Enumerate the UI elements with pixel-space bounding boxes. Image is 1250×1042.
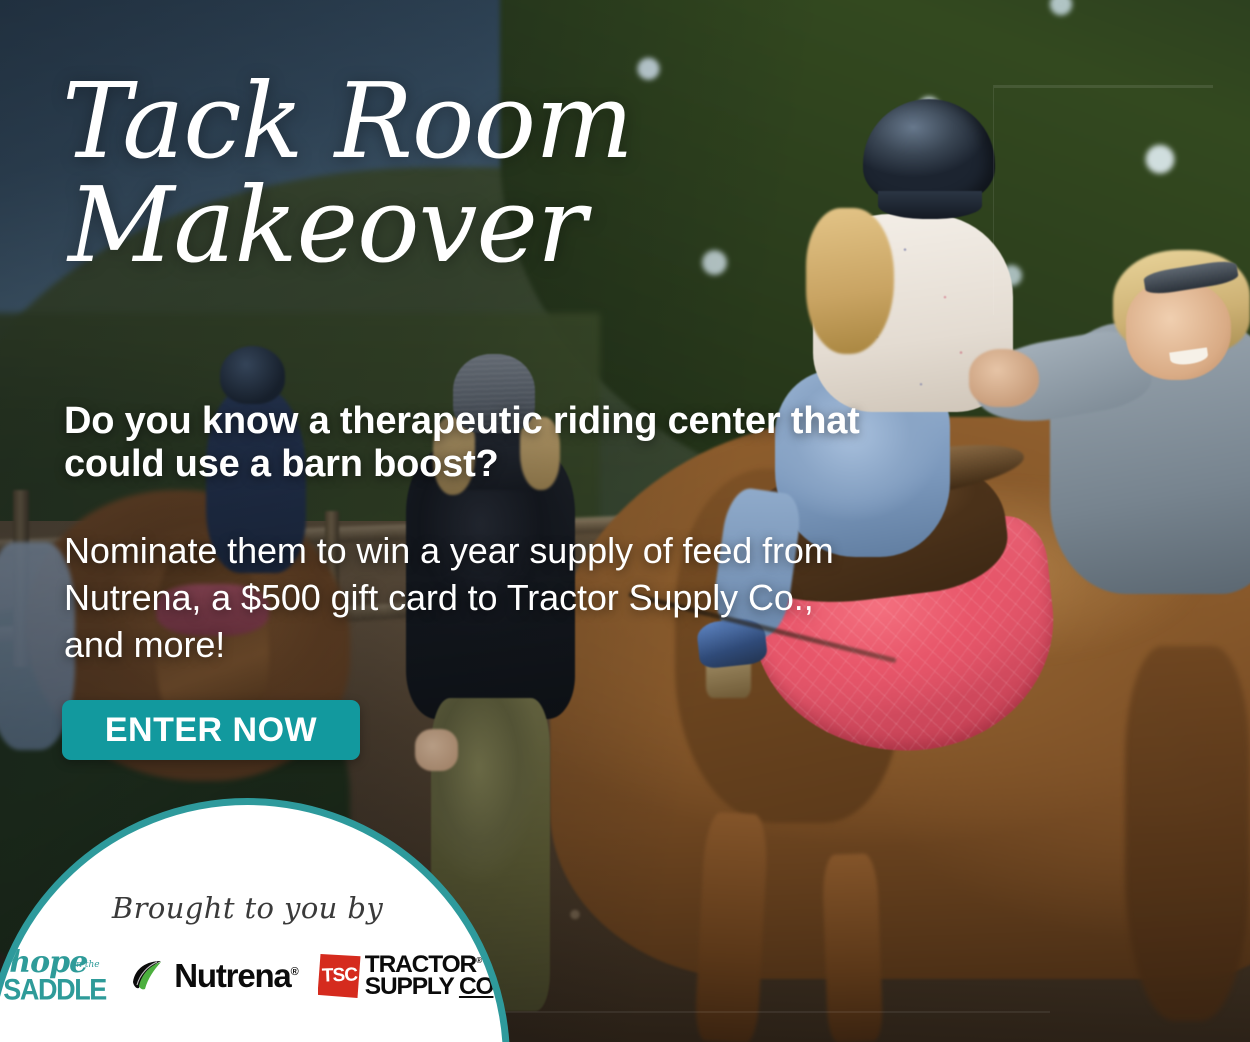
nutrena-wordmark: Nutrena® (174, 957, 297, 995)
promo-banner: Tack Room Makeover Do you know a therape… (0, 0, 1250, 1042)
sponsor-inner: Brought to you by hope in the SADDLE (0, 805, 503, 1005)
tsc-badge-text: TSC (321, 964, 357, 987)
sponsor-logos: hope in the SADDLE Nutr (3, 947, 491, 1005)
tsc-line-2: SUPPLY CO (364, 976, 493, 998)
banner-content: Tack Room Makeover Do you know a therape… (0, 0, 1250, 1042)
tractor-supply-logo[interactable]: TSC TRACTOR® SUPPLY CO (318, 954, 492, 998)
hope-logo-tiny-text: in the (73, 961, 99, 970)
headline-line-1: Tack Room (62, 72, 682, 172)
nutrena-leaf-icon (127, 956, 167, 996)
enter-now-button[interactable]: ENTER NOW (62, 700, 360, 760)
tsc-badge-icon: TSC (318, 954, 361, 998)
tractor-supply-wordmark: TRACTOR® SUPPLY CO (366, 954, 492, 998)
hope-in-the-saddle-logo[interactable]: hope in the SADDLE (3, 947, 107, 1005)
subheadline: Do you know a therapeutic riding center … (64, 400, 864, 487)
hope-logo-saddle-word: SADDLE (3, 974, 106, 1007)
sponsor-circle: Brought to you by hope in the SADDLE (0, 798, 510, 1042)
nutrena-trademark: ® (291, 966, 298, 978)
headline-line-2: Makeover (68, 176, 682, 276)
brought-to-you-by-label: Brought to you by (112, 891, 383, 925)
page-title: Tack Room Makeover (62, 72, 682, 276)
nutrena-logo[interactable]: Nutrena® (127, 956, 297, 996)
body-copy: Nominate them to win a year supply of fe… (64, 528, 854, 668)
